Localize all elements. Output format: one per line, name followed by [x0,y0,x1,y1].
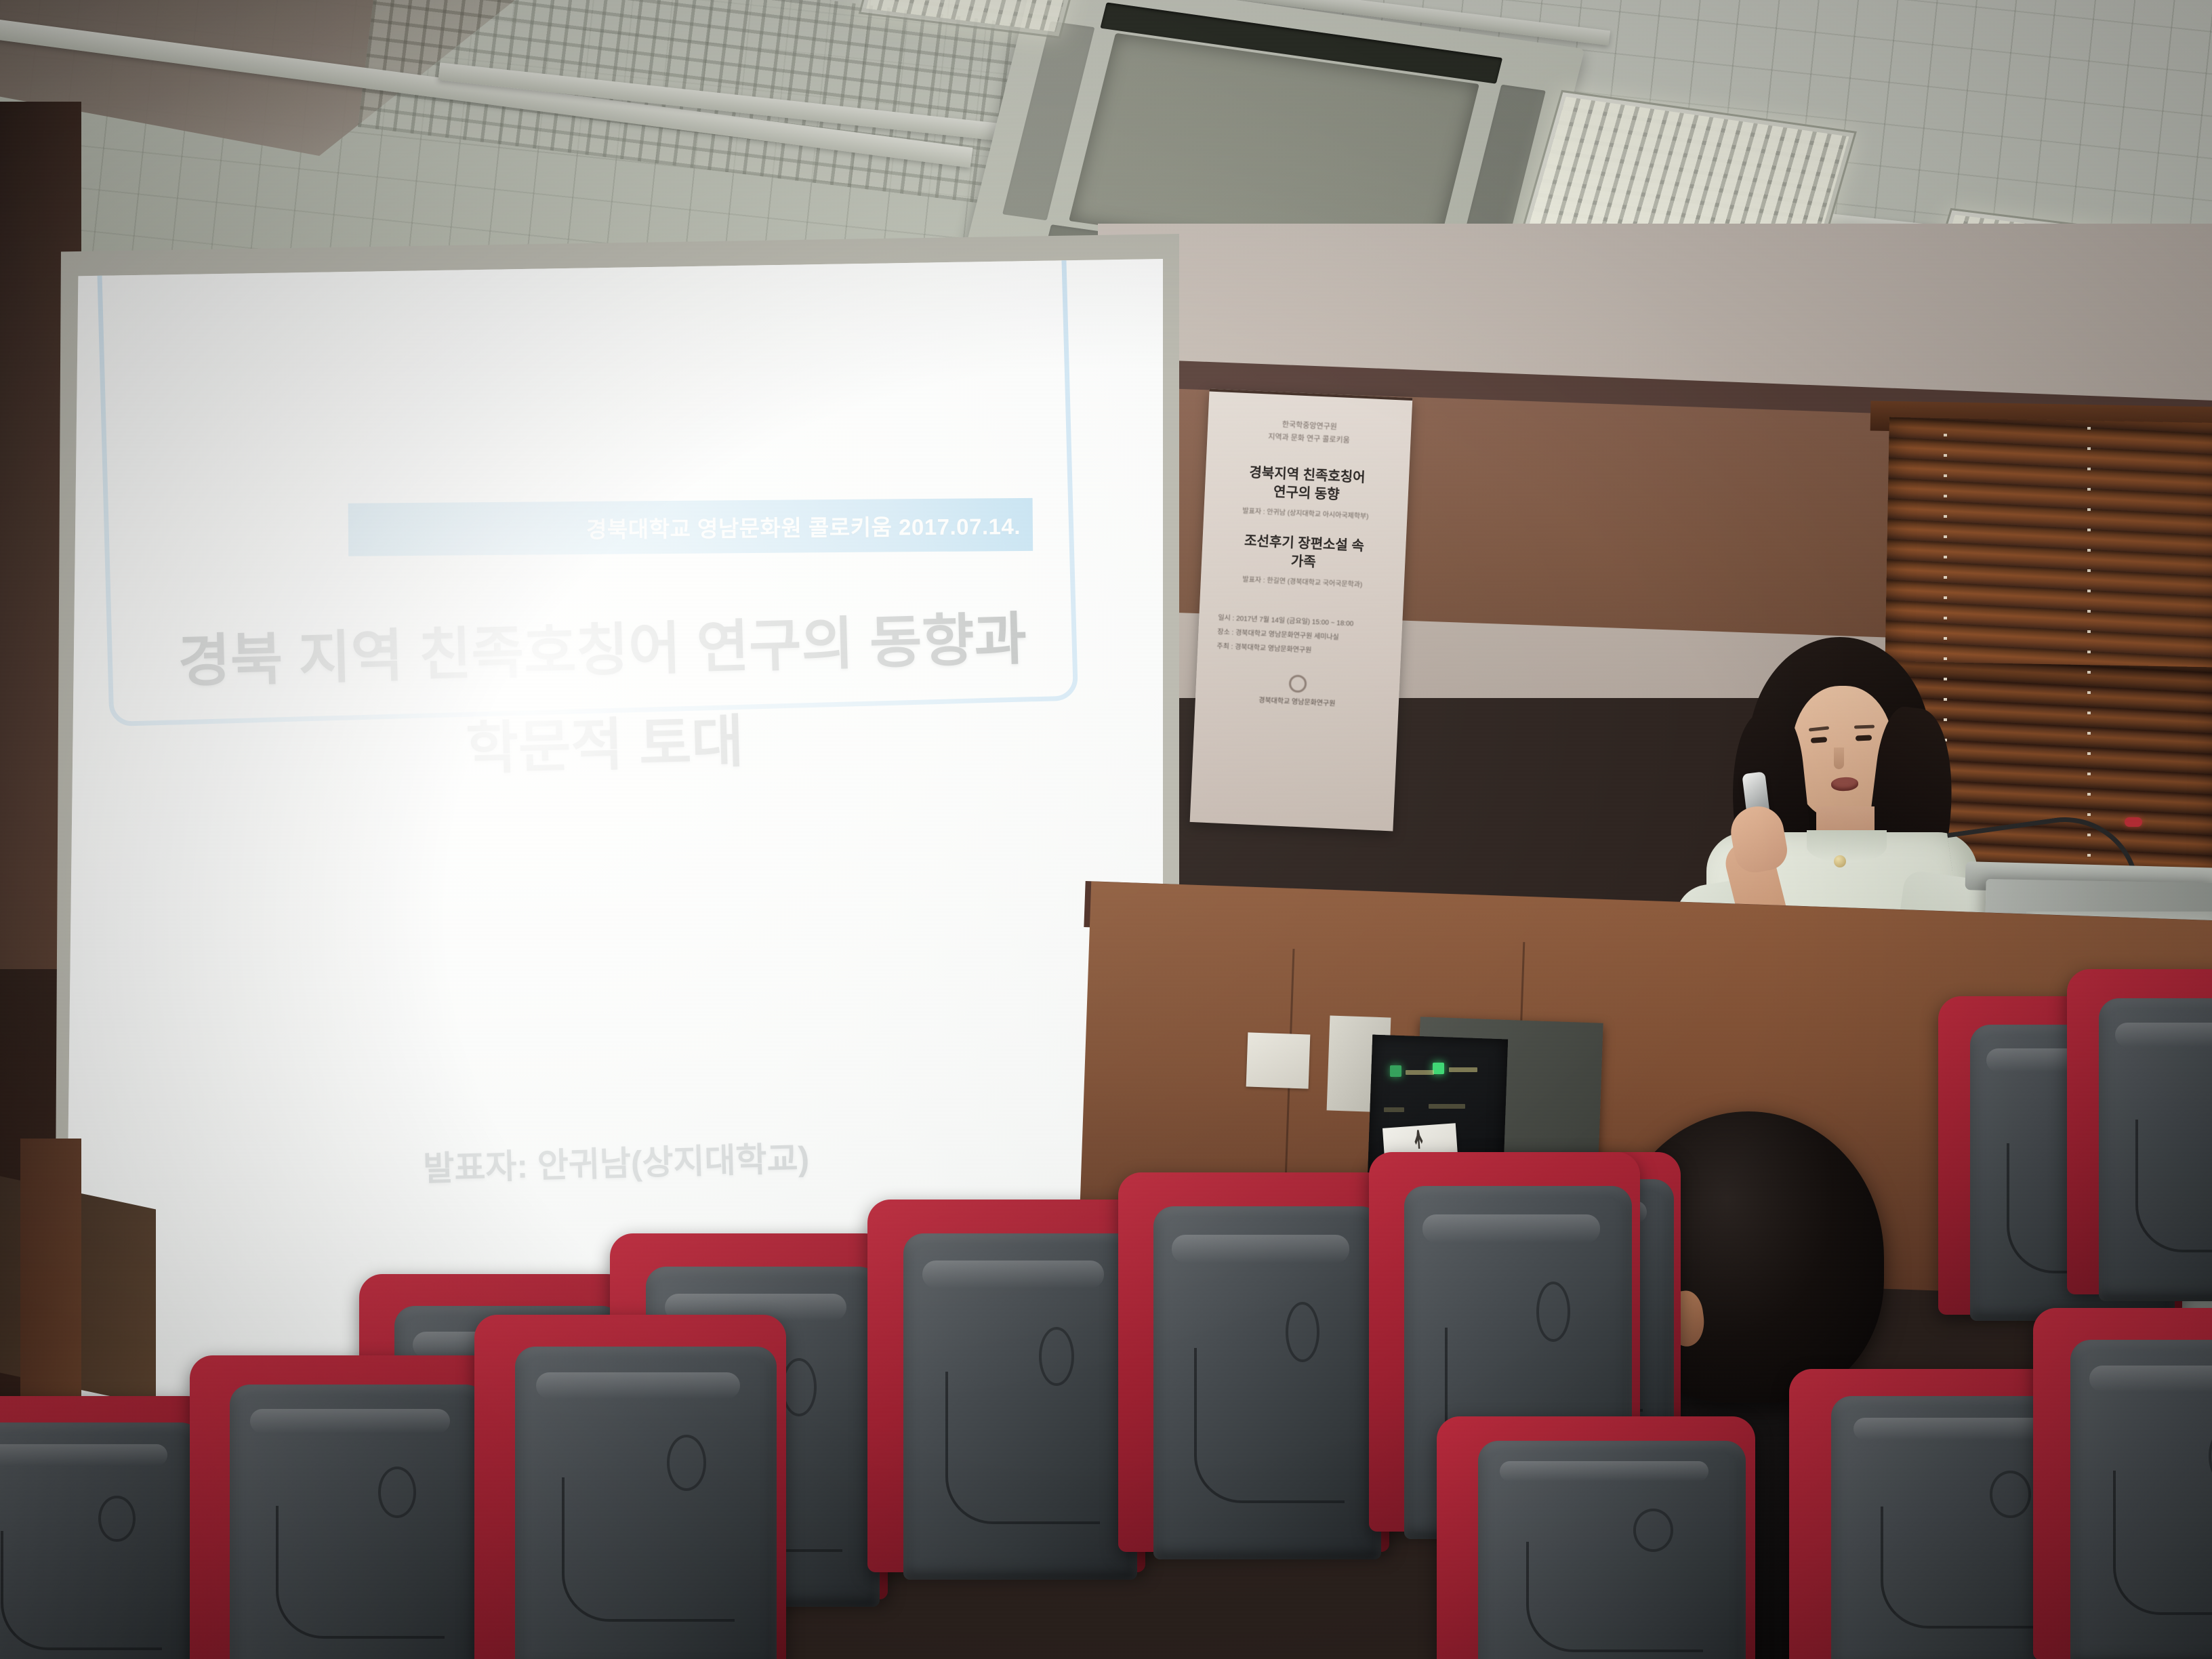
presenter-eye [1856,735,1872,741]
poster-subtitle1: 발표자 : 안귀남 (상지대학교 아시아국제학부) [1213,504,1397,522]
poster-logo-mark-icon [1288,674,1307,693]
av-label-strip [1449,1067,1477,1072]
seat-groove-detail [2113,1471,2212,1615]
auditorium-photo-scene: 경북대학교 영남문화원 콜로키움 2017.07.14. 경북 지역 친족호칭어… [0,0,2212,1659]
seat[interactable] [474,1315,786,1659]
slide-presenter-text: 발표자: 안귀남(상지대학교) [175,1125,1057,1197]
av-status-led-icon [1433,1063,1444,1074]
seat[interactable] [867,1200,1145,1572]
seat-groove-detail [562,1477,735,1622]
seat[interactable] [0,1396,210,1659]
seat-back-shell [515,1347,777,1659]
seat[interactable] [1118,1172,1389,1552]
presenter-eyebrow [1854,724,1875,729]
seat-groove-detail [1526,1542,1703,1653]
seat-groove-detail [1194,1348,1345,1503]
seat-groove-detail [945,1372,1099,1524]
seat-back-shell [2099,998,2212,1300]
poster-logo: 경북대학교 영남문화연구원 [1205,671,1391,710]
seat-back-shell [1478,1441,1746,1659]
seat-back-shell [903,1233,1136,1580]
seat-back-shell [1153,1206,1381,1559]
slide-banner-text: 경북대학교 영남문화원 콜로키움 2017.07.14. [586,508,1021,544]
presenter-collar [1807,830,1887,863]
presenter-nose [1834,747,1844,769]
seat-groove-detail [2135,1120,2212,1252]
slide-banner: 경북대학교 영남문화원 콜로키움 2017.07.14. [348,498,1033,556]
seat[interactable] [2033,1308,2212,1659]
av-label-strip [1384,1107,1404,1112]
seat-groove-detail [276,1506,445,1639]
event-poster-banner: 한국학중앙연구원 지역과 문화 연구 콜로키움 경북지역 친족호칭어 연구의 동… [1190,389,1413,832]
poster-logo-text: 경북대학교 영남문화연구원 [1258,697,1336,708]
seat-back-shell [230,1385,486,1659]
seat[interactable] [2067,969,2212,1294]
seat[interactable] [1437,1416,1755,1659]
av-label-strip [1406,1070,1434,1075]
seat[interactable] [190,1355,495,1659]
wall-notice-label [1246,1032,1311,1088]
presenter-eye [1811,737,1827,743]
poster-subtitle2: 발표자 : 한길연 (경북대학교 국어국문학과) [1210,572,1395,590]
seat-groove-detail [1,1531,162,1650]
seat-back-shell [0,1422,201,1659]
av-status-led-icon [1390,1065,1401,1077]
av-label-strip [1429,1104,1465,1109]
gooseneck-mic-tip [2125,817,2142,827]
person-pictogram-icon [1414,1130,1423,1149]
presenter-necklace [1834,855,1846,867]
seat-back-shell [2070,1340,2212,1659]
